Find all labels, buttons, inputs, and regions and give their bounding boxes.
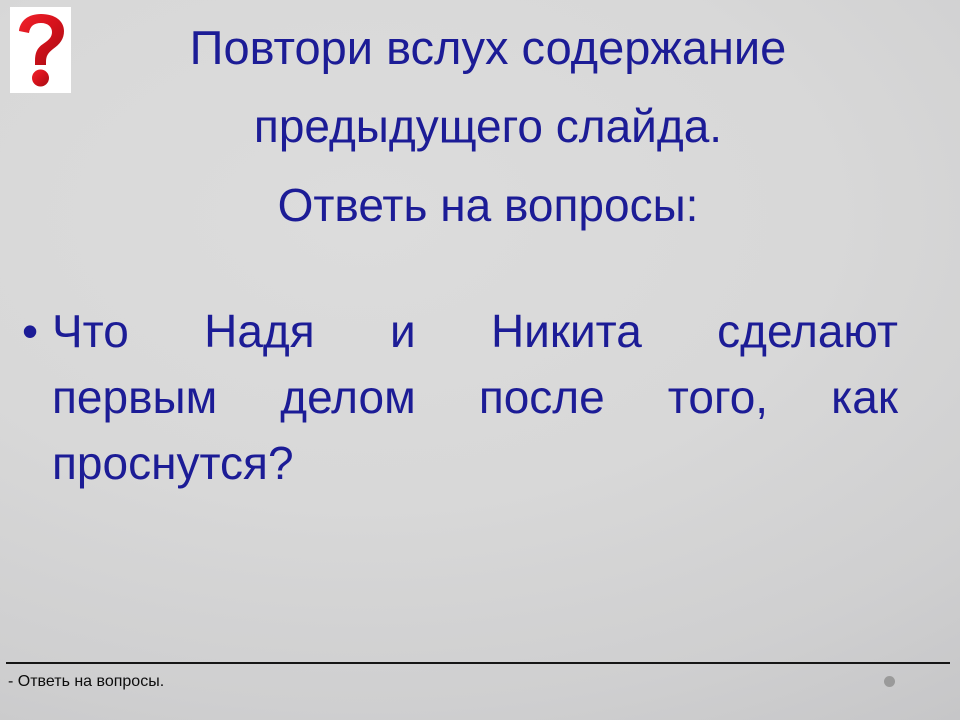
slide-body: • Что Надя и Никита сделают первым делом… [8,298,898,496]
footer-note: - Ответь на вопросы. [8,671,164,693]
title-line-2: предыдущего слайда. [78,87,898,166]
title-line-1: Повтори вслух содержание [78,8,898,87]
bullet-marker-icon: • [8,298,52,364]
question-mark-icon [10,7,71,93]
title-line-3: Ответь на вопросы: [78,166,898,245]
body-line-2: первым делом после того, как [52,364,898,430]
list-item-text: Что Надя и Никита сделают первым делом п… [52,298,898,496]
slide-title: Повтори вслух содержание предыдущего сла… [78,8,898,245]
dot-marker-icon [884,676,895,687]
body-line-3: проснутся? [52,430,898,496]
footer-divider [6,662,950,664]
presentation-slide: Повтори вслух содержание предыдущего сла… [0,0,960,720]
list-item: • Что Надя и Никита сделают первым делом… [8,298,898,496]
body-line-1: Что Надя и Никита сделают [52,298,898,364]
